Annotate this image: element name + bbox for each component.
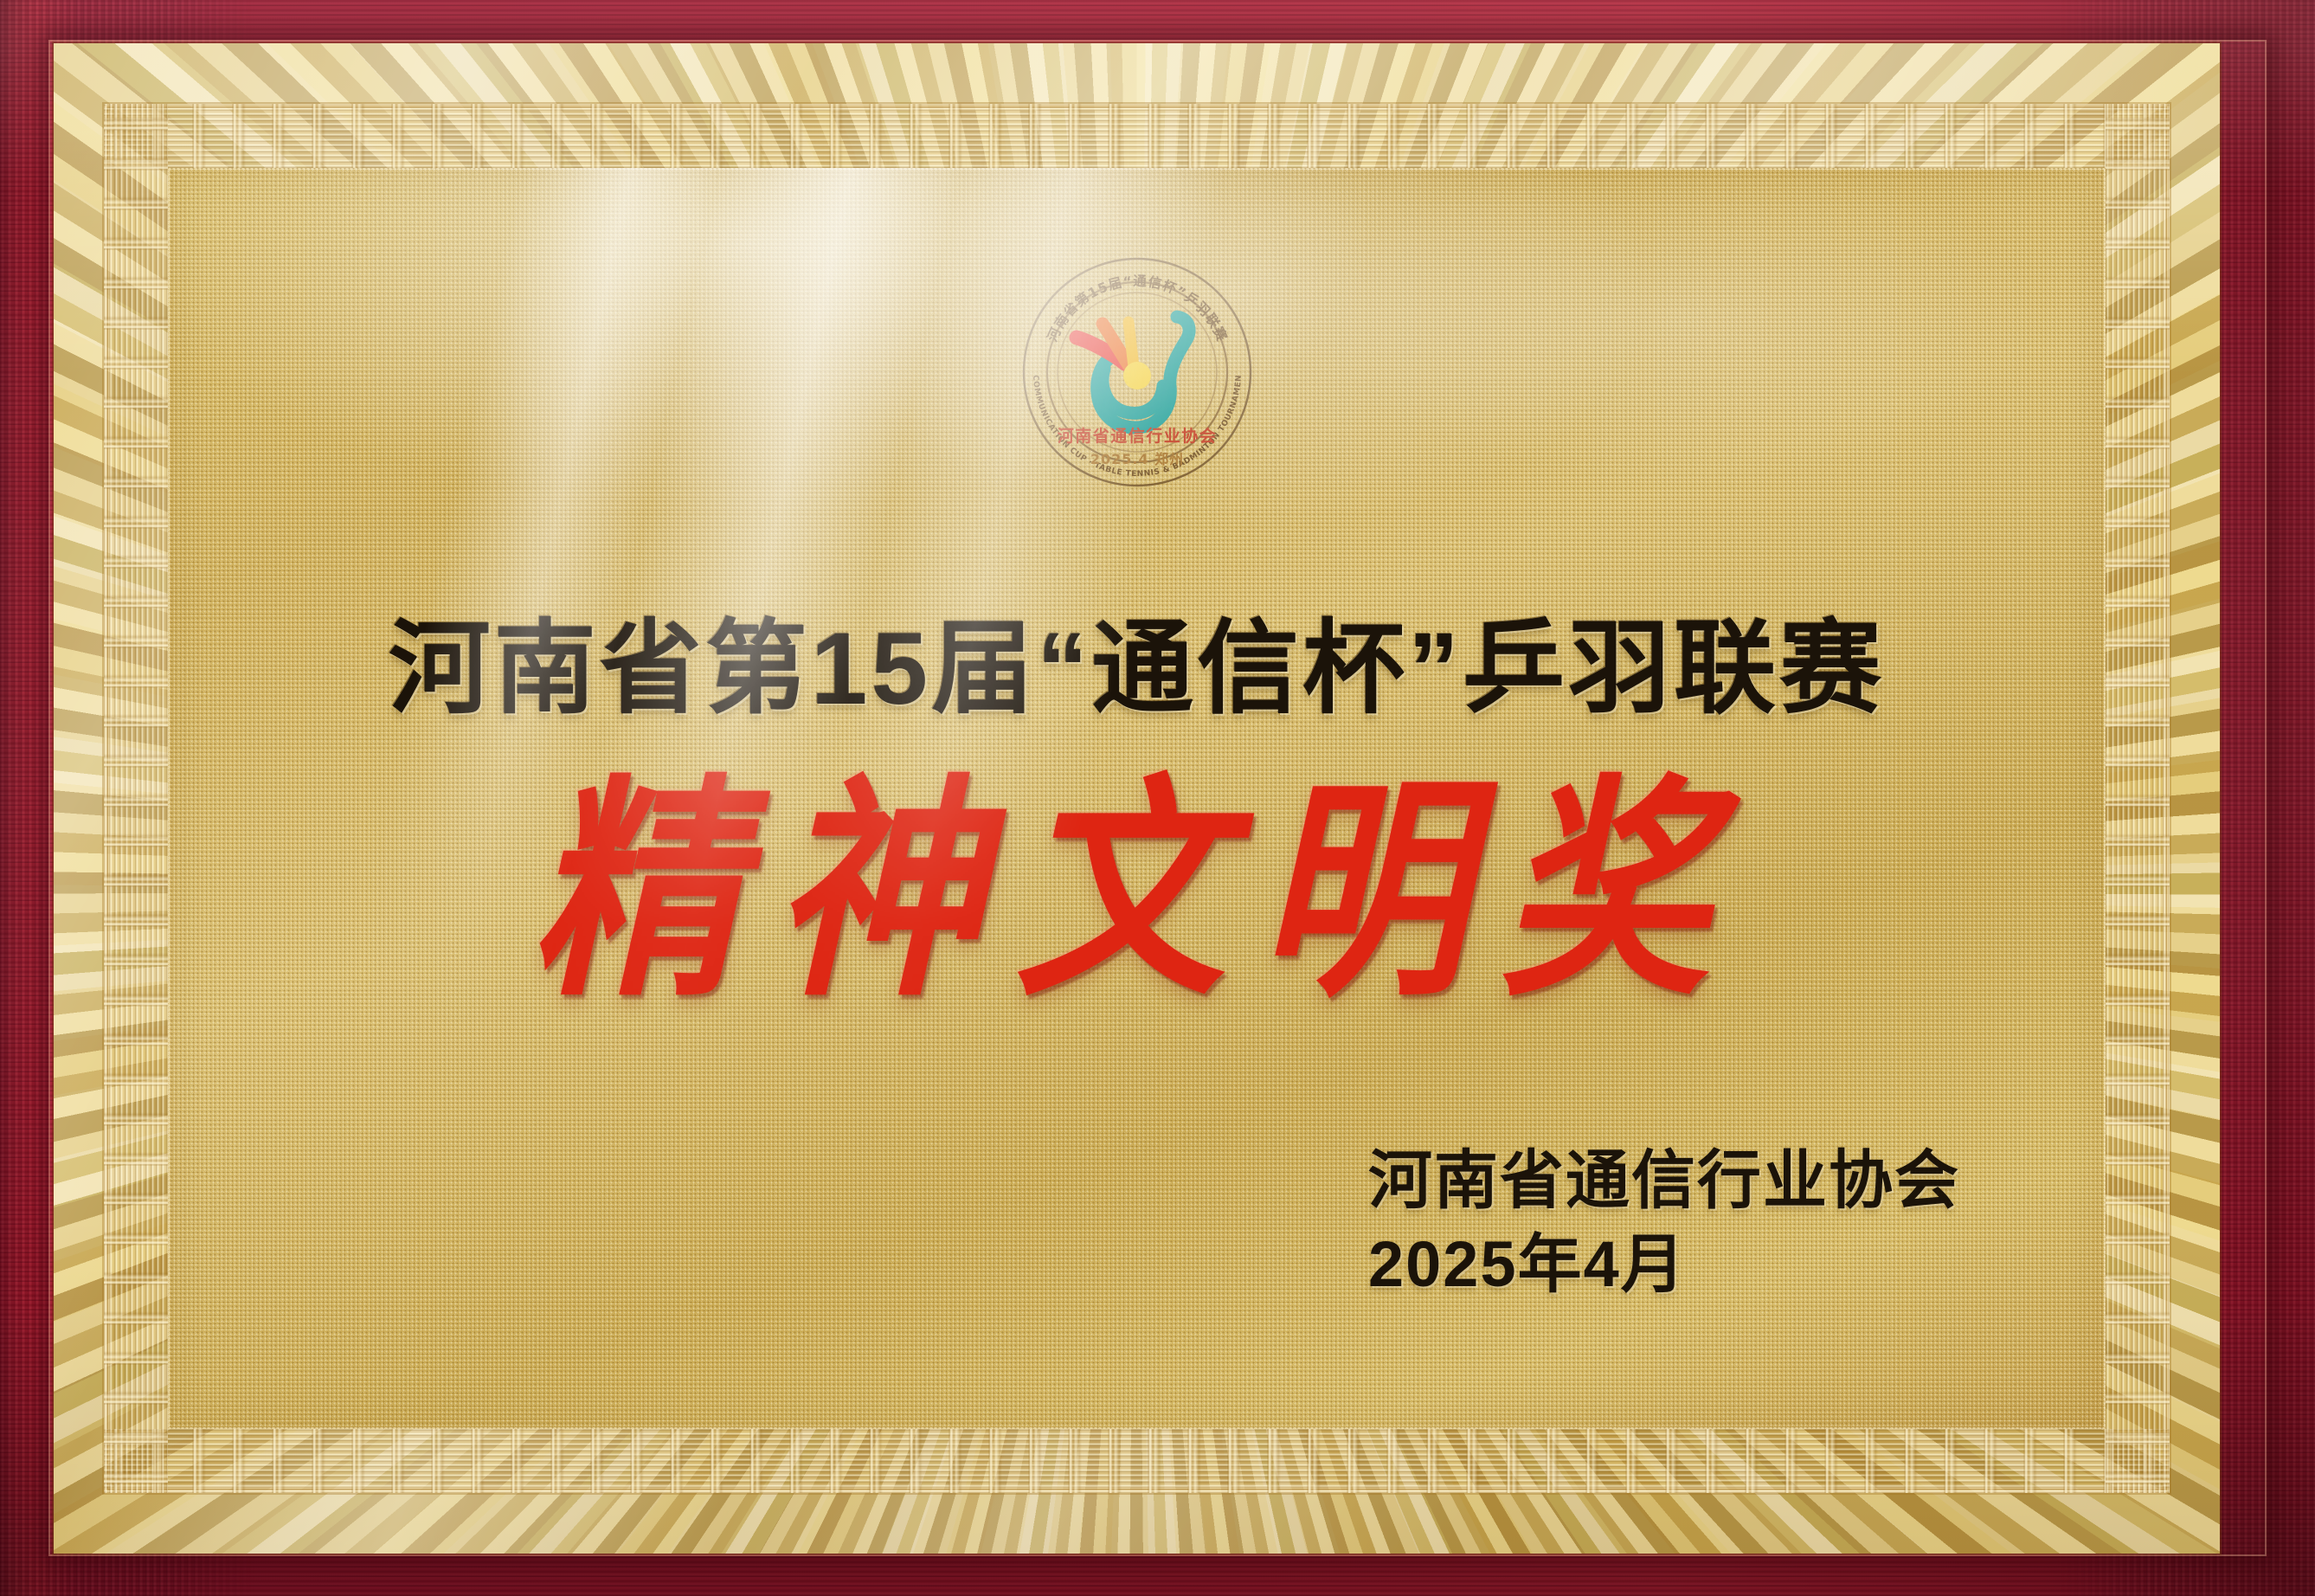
gold-plate: 河南省第15届“通信杯”乒羽联赛 THE 15TH · COMMUNICATIO… — [54, 43, 2220, 1554]
emblem-feather-yellow — [1129, 322, 1134, 367]
tournament-emblem: 河南省第15届“通信杯”乒羽联赛 THE 15TH · COMMUNICATIO… — [1019, 254, 1255, 490]
emblem-inner-org: 河南省通信行业协会 — [1057, 426, 1217, 446]
band-strip-left — [104, 104, 168, 1493]
award-name: 精神文明奖 — [168, 774, 2106, 1008]
emblem-ball — [1123, 362, 1151, 389]
band-strip-top — [104, 104, 2170, 168]
signature-block: 河南省通信行业协会 2025年4月 — [1368, 1145, 1960, 1301]
emblem-inner-date-place: 2025.4 郑州 — [1090, 451, 1183, 467]
inscription-content: 河南省第15届“通信杯”乒羽联赛 THE 15TH · COMMUNICATIO… — [168, 168, 2106, 1429]
band-strip-bottom — [104, 1429, 2170, 1493]
plaque-title: 河南省第15届“通信杯”乒羽联赛 — [168, 618, 2106, 720]
award-plaque: 河南省第15届“通信杯”乒羽联赛 THE 15TH · COMMUNICATIO… — [0, 0, 2315, 1596]
issuing-organization: 河南省通信行业协会 — [1368, 1145, 1960, 1217]
band-strip-right — [2106, 104, 2170, 1493]
inscription-field: 河南省第15届“通信杯”乒羽联赛 THE 15TH · COMMUNICATIO… — [168, 168, 2106, 1429]
issue-date: 2025年4月 — [1368, 1229, 1960, 1301]
